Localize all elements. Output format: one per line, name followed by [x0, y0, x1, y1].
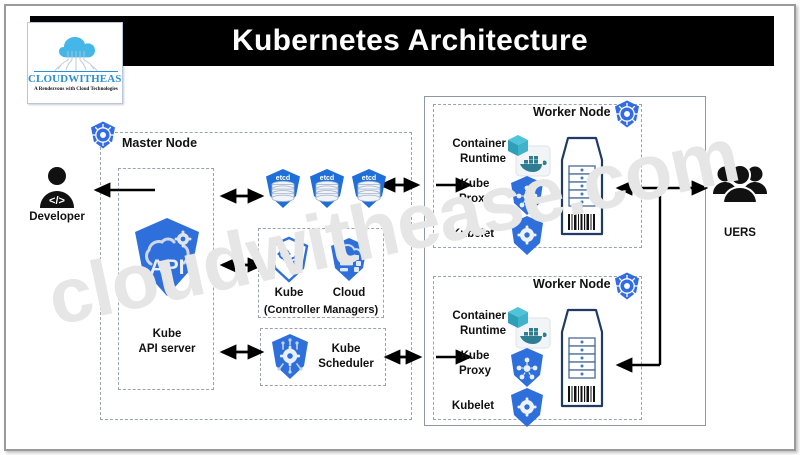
kube-controller-label: Kube	[266, 286, 312, 301]
label-line1: Container	[452, 138, 506, 150]
worker-2-kubelet-label: Kubelet	[440, 399, 506, 414]
label-line1: Container	[452, 310, 506, 322]
kube-proxy-icon	[506, 346, 548, 390]
label-line2: Proxy	[459, 365, 491, 377]
kubernetes-helm-icon	[88, 120, 118, 150]
etcd-database-icon: etcd	[348, 167, 390, 211]
cloud-roots-logo-icon	[28, 25, 123, 73]
kube-controller-gears-icon	[266, 236, 312, 284]
server-rack-barcode-icon	[556, 134, 608, 238]
worker-1-container-runtime-label: Container Runtime	[440, 137, 506, 167]
users-label: UERS	[700, 226, 780, 241]
logo-brand-name: CLOUDWITHEASE	[28, 73, 123, 85]
logo-divider	[34, 71, 118, 72]
svg-text:</>: </>	[49, 195, 65, 207]
etcd-database-icon: etcd	[306, 167, 348, 211]
etcd-database-icon: etcd	[262, 167, 304, 211]
page-title: Kubernetes Architecture	[130, 16, 690, 66]
users-group-icon	[712, 158, 768, 210]
developer-person-code-icon: </>	[34, 164, 80, 210]
cloud-controller-icon	[326, 236, 372, 284]
label-line1: Kube	[461, 178, 490, 190]
api-server-label-line1: Kube	[153, 328, 182, 340]
kubernetes-helm-icon	[612, 271, 642, 301]
cloud-controller-label: Cloud	[326, 286, 372, 301]
label-line1: Kube	[461, 350, 490, 362]
server-rack-barcode-icon	[556, 306, 608, 410]
label-line2: Runtime	[460, 325, 506, 337]
docker-container-icon	[502, 304, 554, 350]
kubernetes-helm-icon	[612, 99, 642, 129]
svg-text:API: API	[149, 256, 184, 279]
label-line2: Runtime	[460, 153, 506, 165]
worker-node-1-title: Worker Node	[533, 105, 611, 119]
api-server-label-line2: API server	[139, 343, 196, 355]
worker-1-kube-proxy-label: Kube Proxy	[444, 177, 506, 207]
worker-node-2-title: Worker Node	[533, 277, 611, 291]
api-server-label: Kube API server	[126, 327, 208, 357]
logo-tagline: A Rendezvous with Cloud Technologies	[28, 87, 123, 92]
api-cloud-gear-icon: API	[126, 216, 208, 298]
kubelet-gear-icon	[506, 214, 548, 258]
scheduler-label-line1: Kube	[332, 343, 361, 355]
worker-2-container-runtime-label: Container Runtime	[440, 309, 506, 339]
kubelet-gear-icon	[506, 386, 548, 430]
worker-2-kube-proxy-label: Kube Proxy	[444, 349, 506, 379]
kube-proxy-icon	[506, 174, 548, 218]
developer-label: Developer	[17, 210, 97, 225]
kube-scheduler-icon	[266, 332, 314, 382]
brand-logo: CLOUDWITHEASE A Rendezvous with Cloud Te…	[27, 22, 123, 104]
worker-1-kubelet-label: Kubelet	[440, 227, 506, 242]
controller-managers-caption: (Controller Managers)	[258, 303, 384, 318]
label-line2: Proxy	[459, 193, 491, 205]
docker-container-icon	[502, 132, 554, 178]
master-node-title: Master Node	[122, 136, 197, 150]
scheduler-label-line2: Scheduler	[318, 358, 374, 370]
diagram-root: cloudwithease.com Kubernetes Architectur…	[0, 0, 800, 455]
scheduler-label: Kube Scheduler	[310, 342, 382, 372]
